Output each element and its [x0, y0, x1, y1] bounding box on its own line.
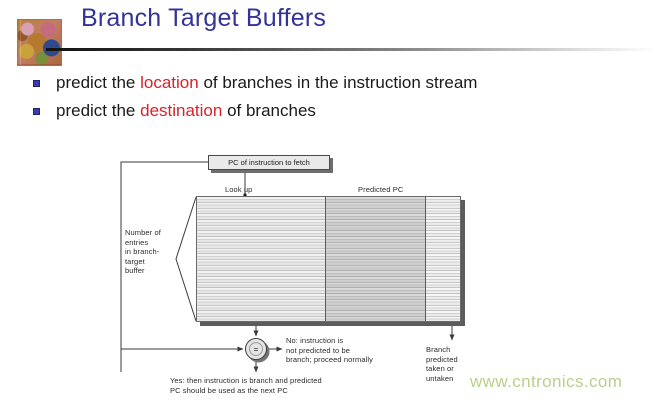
bullet-text-suffix: of branches [222, 101, 316, 120]
predicted-pc-label: Predicted PC [358, 185, 403, 195]
site-watermark: www.cntronics.com [470, 372, 622, 392]
header-divider [46, 48, 658, 51]
comparator-symbol: = [254, 345, 259, 354]
no-branch-label: No: instruction is not predicted to be b… [286, 336, 373, 365]
btb-table [196, 196, 461, 322]
bullet-text-suffix: of branches in the instruction stream [199, 73, 478, 92]
bullet-list: predict the location of branches in the … [33, 70, 653, 126]
bullet-text: predict the destination of branches [56, 101, 316, 121]
btb-column-predicted-pc [326, 197, 426, 321]
branch-prediction-label: Branch predicted taken or untaken [426, 345, 458, 383]
equality-comparator-node: = [245, 338, 267, 360]
btb-column-prediction-bits [426, 197, 460, 321]
number-of-entries-label: Number of entries in branch- target buff… [125, 228, 161, 276]
bullet-square-icon [33, 108, 40, 115]
list-item: predict the location of branches in the … [33, 70, 653, 96]
cpu-die-image-icon [17, 19, 62, 66]
yes-branch-label: Yes: then instruction is branch and pred… [170, 376, 322, 395]
btb-diagram: PC of instruction to fetch Look up Predi… [0, 140, 663, 400]
bullet-text: predict the location of branches in the … [56, 73, 477, 93]
slide-canvas: Branch Target Buffers predict the locati… [0, 0, 663, 400]
pc-instruction-box: PC of instruction to fetch [208, 155, 330, 170]
page-title: Branch Target Buffers [81, 4, 326, 33]
bullet-text-prefix: predict the [56, 73, 140, 92]
bullet-text-prefix: predict the [56, 101, 140, 120]
list-item: predict the destination of branches [33, 98, 653, 124]
bullet-text-highlight: location [140, 73, 199, 92]
bullet-text-highlight: destination [140, 101, 222, 120]
bullet-square-icon [33, 80, 40, 87]
btb-column-lookup [197, 197, 326, 321]
lookup-label: Look up [225, 185, 252, 195]
